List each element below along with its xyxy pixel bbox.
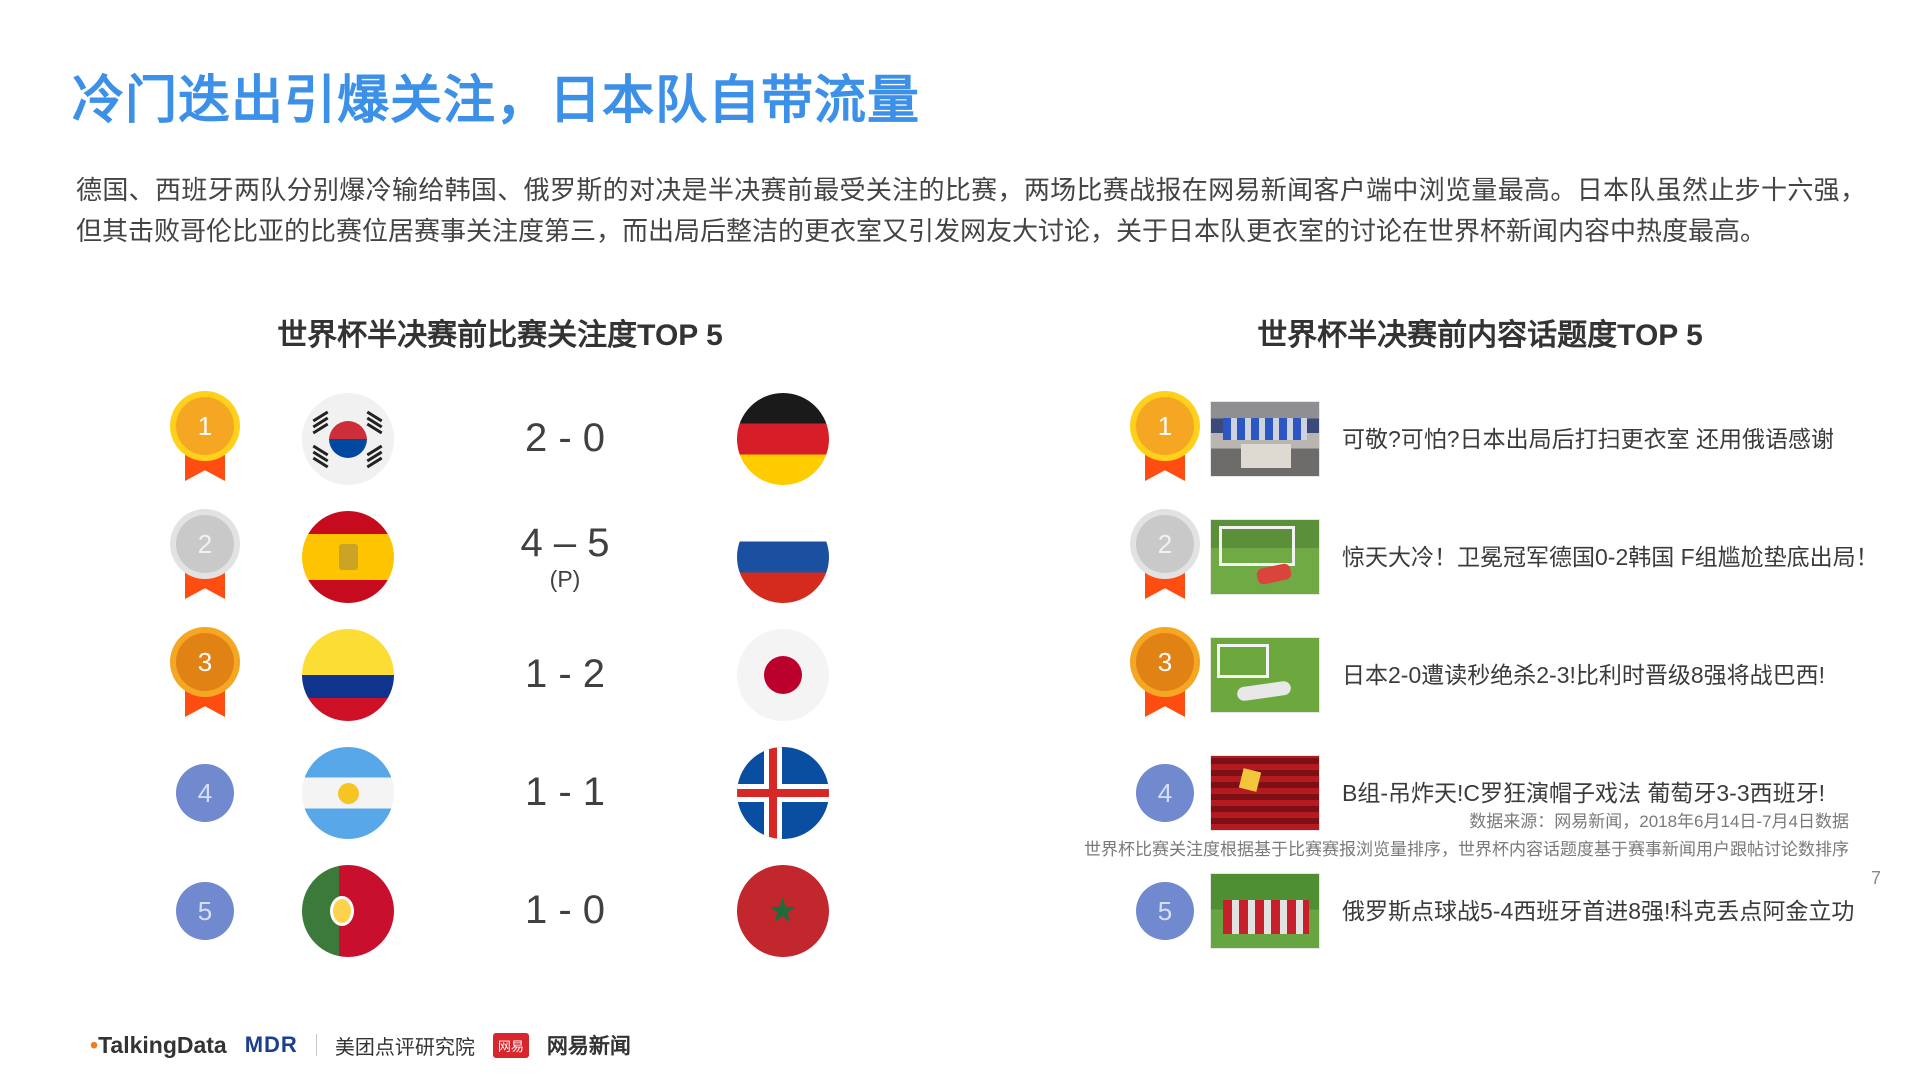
medal-bronze-icon: 3	[176, 633, 234, 717]
data-source-note: 数据来源：网易新闻，2018年6月14日-7月4日数据	[1469, 808, 1849, 836]
rank-number: 2	[1136, 515, 1194, 573]
logo-dot-icon: •	[90, 1032, 98, 1058]
slide-root: 冷门迭出引爆关注，日本队自带流量 德国、西班牙两队分别爆冷输给韩国、俄罗斯的对决…	[0, 0, 1921, 1080]
table-row: 2 4 – 5 (P)	[150, 498, 870, 616]
flag-cell-left	[260, 747, 435, 839]
rank-number: 5	[198, 896, 212, 927]
flag-cell-left	[260, 629, 435, 721]
news-headline[interactable]: 可敬?可怕?日本出局后打扫更衣室 还用俄语感谢	[1342, 423, 1834, 456]
left-column-title: 世界杯半决赛前比赛关注度TOP 5	[180, 310, 820, 354]
score-cell: 1 - 2	[435, 653, 695, 696]
rank-cell: 4	[150, 764, 260, 822]
flag-cell-right	[695, 629, 870, 721]
flag-morocco-icon: ★	[737, 865, 829, 957]
flag-japan-icon	[737, 629, 829, 721]
table-row: 4 1 - 1	[150, 734, 870, 852]
rank-badge-5: 5	[1136, 882, 1194, 940]
rank-number: 1	[176, 397, 234, 455]
right-column-title: 世界杯半决赛前内容话题度TOP 5	[1130, 310, 1830, 354]
table-row: 3 1 - 2	[150, 616, 870, 734]
methodology-note: 世界杯比赛关注度根据基于比赛赛报浏览量排序，世界杯内容话题度基于赛事新闻用户跟帖…	[1084, 836, 1849, 864]
flag-iceland-icon	[737, 747, 829, 839]
page-title: 冷门迭出引爆关注，日本队自带流量	[72, 58, 920, 133]
score-cell: 4 – 5 (P)	[435, 522, 695, 592]
medal-silver-icon: 2	[176, 515, 234, 599]
list-item[interactable]: 1 可敬?可怕?日本出局后打扫更衣室 还用俄语感谢	[1120, 380, 1880, 498]
rank-badge-4: 4	[1136, 764, 1194, 822]
table-row: 5 1 - 0 ★	[150, 852, 870, 970]
rank-cell: 2	[1120, 515, 1210, 599]
lede-paragraph: 德国、西班牙两队分别爆冷输给韩国、俄罗斯的对决是半决赛前最受关注的比赛，两场比赛…	[76, 170, 1866, 252]
flag-south-korea-icon	[302, 393, 394, 485]
score-value: 1 - 2	[525, 652, 605, 696]
logo-netease-badge-icon: 网易	[493, 1033, 529, 1058]
logo-netease-news: 网易新闻	[547, 1030, 631, 1060]
score-cell: 2 - 0	[435, 417, 695, 460]
flag-cell-right	[695, 747, 870, 839]
score-cell: 1 - 0	[435, 889, 695, 932]
logo-mdr: MDR	[245, 1032, 298, 1058]
news-headline[interactable]: 俄罗斯点球战5-4西班牙首进8强!科克丢点阿金立功	[1342, 895, 1854, 928]
rank-number: 1	[1136, 397, 1194, 455]
logo-meituan-research: 美团点评研究院	[335, 1031, 475, 1060]
rank-badge-4: 4	[176, 764, 234, 822]
table-row: 1 2 - 0	[150, 380, 870, 498]
flag-portugal-icon	[302, 865, 394, 957]
list-item[interactable]: 3 日本2-0遭读秒绝杀2-3!比利时晋级8强将战巴西!	[1120, 616, 1880, 734]
flag-russia-icon	[737, 511, 829, 603]
flag-argentina-icon	[302, 747, 394, 839]
flag-cell-left	[260, 865, 435, 957]
rank-number: 2	[176, 515, 234, 573]
rank-cell: 4	[1120, 764, 1210, 822]
flag-cell-right	[695, 511, 870, 603]
rank-number: 3	[1136, 633, 1194, 691]
rank-badge-5: 5	[176, 882, 234, 940]
footer-logos: •TalkingData MDR 美团点评研究院 网易 网易新闻	[90, 1030, 631, 1060]
score-value: 1 - 1	[525, 770, 605, 814]
news-ranking-list: 1 可敬?可怕?日本出局后打扫更衣室 还用俄语感谢 2 惊天大冷！卫冕冠军德国0…	[1120, 380, 1880, 970]
flag-spain-icon	[302, 511, 394, 603]
news-thumbnail-locker-room	[1210, 401, 1320, 477]
rank-cell: 5	[1120, 882, 1210, 940]
flag-cell-left	[260, 393, 435, 485]
news-thumbnail-crowd	[1210, 755, 1320, 831]
flag-germany-icon	[737, 393, 829, 485]
rank-cell: 5	[150, 882, 260, 940]
rank-cell: 2	[150, 515, 260, 599]
news-headline[interactable]: 惊天大冷！卫冕冠军德国0-2韩国 F组尴尬垫底出局！	[1342, 541, 1879, 574]
list-item[interactable]: 5 俄罗斯点球战5-4西班牙首进8强!科克丢点阿金立功	[1120, 852, 1880, 970]
news-headline[interactable]: 日本2-0遭读秒绝杀2-3!比利时晋级8强将战巴西!	[1342, 659, 1825, 692]
rank-cell: 1	[150, 397, 260, 481]
rank-cell: 1	[1120, 397, 1210, 481]
score-value: 1 - 0	[525, 888, 605, 932]
page-number: 7	[1871, 868, 1881, 889]
score-value: 4 – 5	[521, 521, 610, 565]
flag-cell-left	[260, 511, 435, 603]
score-cell: 1 - 1	[435, 771, 695, 814]
rank-cell: 3	[1120, 633, 1210, 717]
flag-cell-right	[695, 393, 870, 485]
list-item[interactable]: 2 惊天大冷！卫冕冠军德国0-2韩国 F组尴尬垫底出局！	[1120, 498, 1880, 616]
flag-colombia-icon	[302, 629, 394, 721]
news-thumbnail-celebration	[1210, 873, 1320, 949]
rank-number: 3	[176, 633, 234, 691]
medal-gold-icon: 1	[176, 397, 234, 481]
rank-cell: 3	[150, 633, 260, 717]
rank-number: 4	[1158, 778, 1172, 809]
medal-bronze-icon: 3	[1136, 633, 1194, 717]
news-thumbnail-pitch	[1210, 637, 1320, 713]
rank-number: 5	[1158, 896, 1172, 927]
score-note: (P)	[435, 567, 695, 592]
medal-silver-icon: 2	[1136, 515, 1194, 599]
rank-number: 4	[198, 778, 212, 809]
news-headline[interactable]: B组-吊炸天!C罗狂演帽子戏法 葡萄牙3-3西班牙!	[1342, 777, 1825, 810]
news-thumbnail-goal	[1210, 519, 1320, 595]
match-ranking-list: 1 2 - 0	[150, 380, 870, 970]
logo-divider	[316, 1034, 317, 1056]
flag-cell-right: ★	[695, 865, 870, 957]
medal-gold-icon: 1	[1136, 397, 1194, 481]
score-value: 2 - 0	[525, 416, 605, 460]
logo-talkingdata: •TalkingData	[90, 1032, 227, 1059]
